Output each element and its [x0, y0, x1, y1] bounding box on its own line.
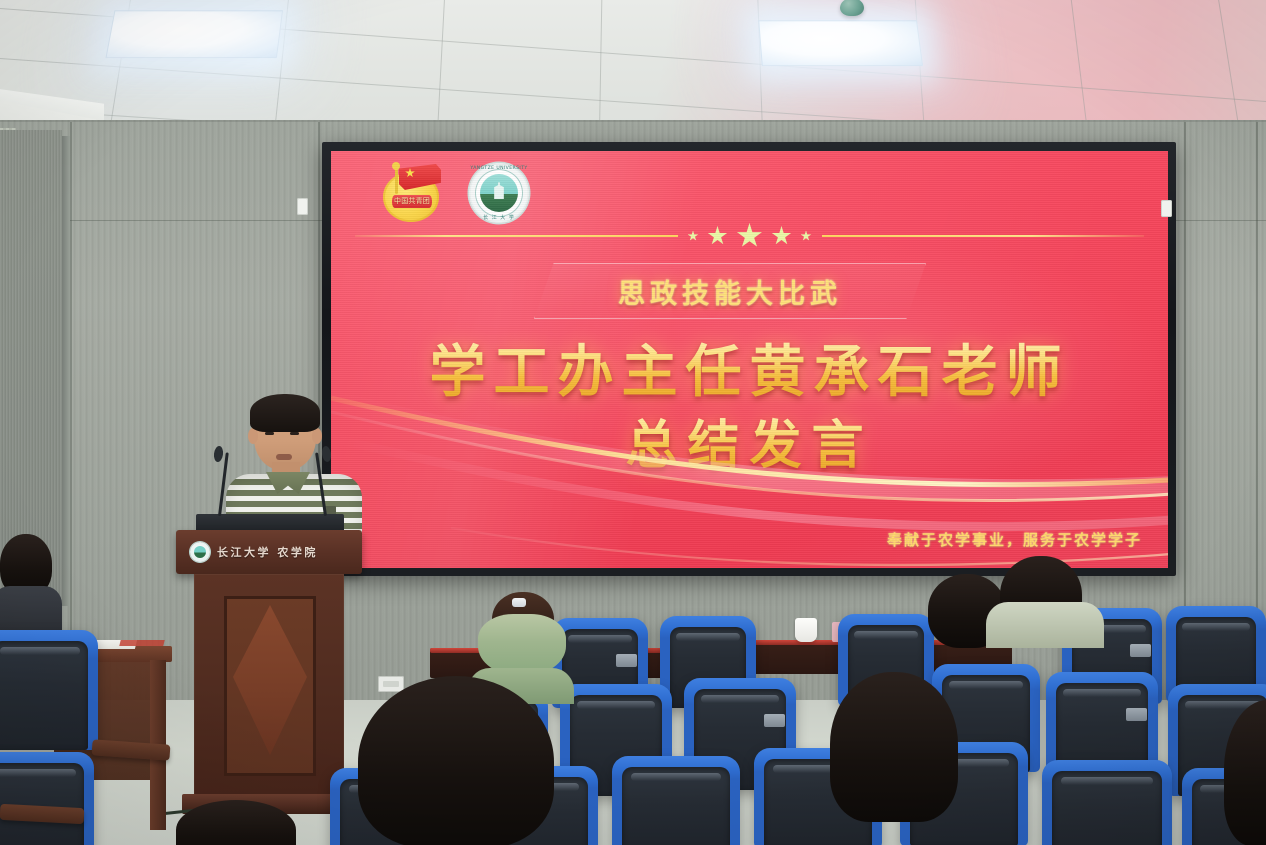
star-icon [772, 226, 792, 246]
seat[interactable] [612, 756, 740, 845]
star-icon [708, 226, 728, 246]
podium-body [194, 574, 344, 806]
led-screen-bezel: 中国共青团 YANGTZE UNIVERSITY 长 江 大 学 [322, 142, 1176, 576]
ceiling-light-right [758, 20, 923, 66]
smoke-detector-icon [840, 0, 864, 16]
screen-footer-slogan: 奉献于农学事业，服务于农学学子 [887, 529, 1142, 550]
podium-institution-text: 长江大学 农学院 [217, 544, 318, 560]
star-group [678, 223, 822, 249]
led-screen: 中国共青团 YANGTZE UNIVERSITY 长 江 大 学 [331, 151, 1168, 568]
podium-nameplate: 长江大学 农学院 [184, 538, 350, 566]
divider-line-right [822, 235, 1145, 237]
seat[interactable] [0, 630, 98, 750]
yangtze-university-seal-icon: YANGTZE UNIVERSITY 长 江 大 学 [469, 163, 529, 223]
screen-subtitle: 思政技能大比武 [534, 267, 926, 315]
star-divider [355, 229, 1144, 243]
audience-shoulders [986, 602, 1104, 648]
screen-title-line1: 学工办主任黄承石老师 [331, 327, 1168, 408]
speaker-hair [250, 394, 320, 432]
hair-clip [512, 598, 526, 607]
university-crest-icon [190, 542, 210, 562]
seat[interactable] [1042, 760, 1172, 845]
wall-pilaster [62, 136, 70, 606]
screen-title-line2: 总结发言 [331, 403, 1168, 478]
ceiling-light-left [105, 10, 283, 58]
desk-red-folder [119, 640, 164, 646]
lecture-hall-scene: 中国共青团 YANGTZE UNIVERSITY 长 江 大 学 [0, 0, 1266, 845]
seat[interactable] [0, 752, 94, 845]
paper-cup [795, 618, 817, 642]
divider-line-left [355, 235, 678, 237]
screen-logos: 中国共青团 YANGTZE UNIVERSITY 长 江 大 学 [383, 163, 529, 223]
star-icon [801, 231, 812, 242]
cyl-band-text: 中国共青团 [392, 195, 432, 208]
communist-youth-league-emblem-icon: 中国共青团 [383, 164, 443, 222]
podium-panel [224, 596, 316, 776]
wall-outlet[interactable] [378, 676, 404, 692]
wall-switch[interactable] [297, 198, 308, 215]
audience-head [358, 676, 554, 845]
audience-head [830, 672, 958, 822]
audience-hair-dyed [478, 614, 566, 676]
seal-text-bottom: 长 江 大 学 [469, 214, 529, 221]
seal-text-top: YANGTZE UNIVERSITY [469, 166, 529, 171]
star-icon [688, 231, 699, 242]
wall-switch-right[interactable] [1161, 200, 1172, 217]
star-icon [737, 223, 763, 249]
podium-diamond-inlay [233, 605, 307, 755]
